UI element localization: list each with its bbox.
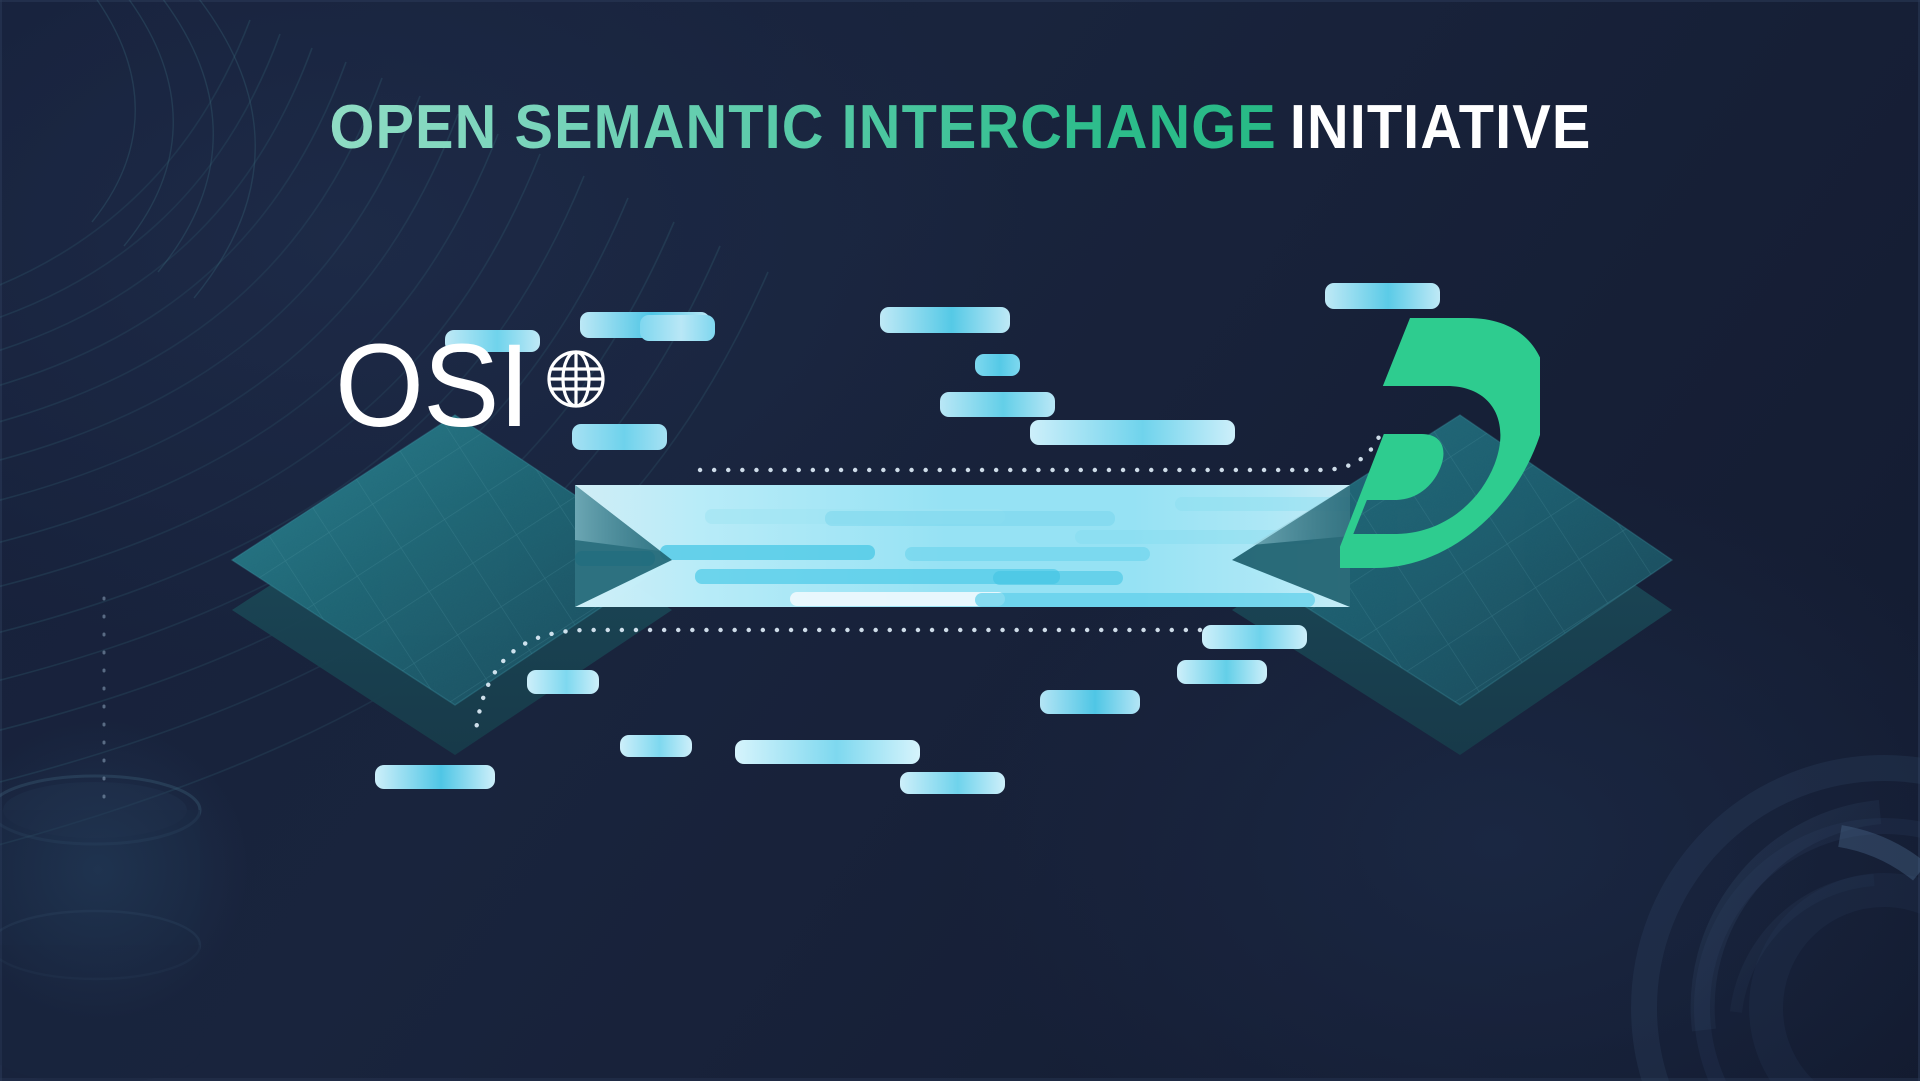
data-chip (1030, 420, 1235, 445)
database-cylinder (0, 776, 200, 1081)
title-plain: INITIATIVE (1289, 93, 1591, 162)
data-chip (620, 735, 692, 757)
stream-stripe (993, 571, 1123, 585)
concentric-arc-rings (1644, 768, 1920, 1081)
data-chip (735, 740, 920, 764)
data-chip (1177, 660, 1267, 684)
data-chip (975, 354, 1020, 376)
title-highlight: OPEN SEMANTIC INTERCHANGE (329, 93, 1276, 162)
data-chip (1040, 690, 1140, 714)
data-chip (1202, 625, 1307, 649)
data-chip (1325, 283, 1440, 309)
stream-stripe (1075, 530, 1315, 544)
data-chip (900, 772, 1005, 794)
stream-stripe (660, 545, 875, 560)
stream-stripe (790, 592, 1005, 606)
hero-banner: OPEN SEMANTIC INTERCHANGEINITIATIVE (0, 0, 1920, 1081)
stream-stripe (575, 551, 655, 566)
stream-stripe (905, 547, 1150, 561)
data-chip (640, 315, 715, 341)
data-stream-band (575, 485, 1350, 607)
data-chip (880, 307, 1010, 333)
data-chip (375, 765, 495, 789)
stream-stripe (975, 593, 1315, 607)
page-title: OPEN SEMANTIC INTERCHANGEINITIATIVE (0, 92, 1920, 163)
frame-edge-top (0, 0, 1920, 2)
stream-stripe (1175, 497, 1350, 511)
stream-stripe (825, 511, 1115, 526)
data-chip (527, 670, 599, 694)
osi-logo-lockup[interactable]: OSI (332, 332, 612, 441)
globe-icon (540, 343, 612, 415)
p-monogram-icon[interactable] (1340, 318, 1540, 568)
osi-wordmark: OSI (335, 332, 529, 441)
data-chip (940, 392, 1055, 417)
